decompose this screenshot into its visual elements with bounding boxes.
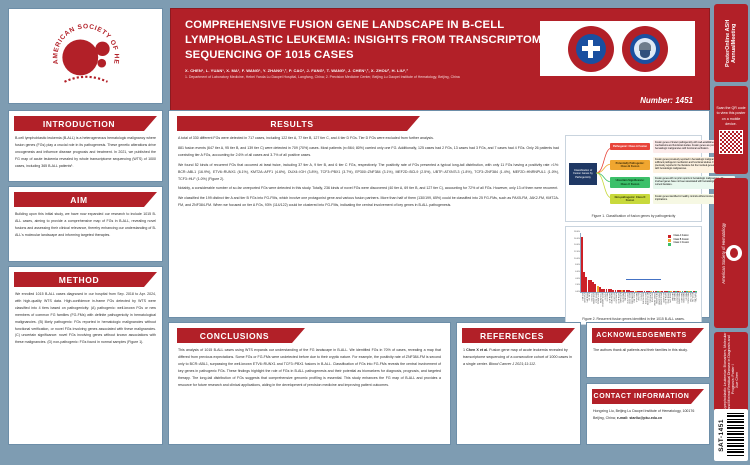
results-body: A total of 330 different FGs were detect… [169, 135, 565, 325]
method-heading: METHOD [14, 272, 144, 287]
results-heading: RESULTS [177, 116, 407, 131]
presenter-label: Xue Chen [735, 372, 739, 388]
poster-header: COMPREHENSIVE FUSION GENE LANDSCAPE IN B… [170, 8, 710, 113]
results-paragraph-4: Notably, a considerable number of so-far… [178, 185, 559, 192]
results-panel: RESULTS A total of 330 different FGs wer… [168, 110, 710, 318]
figure1-tier-label: Non-pathogenic: Class D Fusion [610, 194, 650, 204]
figure1-caption: Figure 1. Classification of fusion genes… [566, 212, 701, 221]
figure-2: 18.0%16.0%14.0%12.0%10.0%8.0%6.0%4.0%2.0… [565, 226, 702, 325]
introduction-heading: INTRODUCTION [14, 116, 144, 131]
conclusions-body: This analysis of 1015 B-ALL cases using … [169, 347, 450, 388]
figures-column: Classification of Fusion Genes by Pathog… [565, 135, 705, 325]
method-body: We enrolled 1015 B-ALL cases diagnosed i… [9, 291, 162, 353]
affiliations: 1. Department of Laboratory Medicine, He… [171, 73, 563, 80]
society-badge: American Society of Hematology [714, 178, 748, 328]
chart-y-tick: 8.0% [568, 264, 580, 266]
chart-y-tick: 4.0% [568, 278, 580, 280]
conclusions-panel: CONCLUSIONS This analysis of 1015 B-ALL … [168, 322, 451, 445]
reference-authors: Chen X et al. [466, 348, 488, 352]
author-list: X. CHEN¹, L. YUAN¹, X. MA¹, F. WANG¹, Y.… [171, 63, 571, 73]
acknowledgements-body: The authors thank all patients and their… [587, 347, 709, 358]
results-paragraph-3: We found 52 kinds of recurrent FGs that … [178, 162, 559, 183]
references-heading: REFERENCES [462, 328, 562, 343]
chart-y-tick: 12.0% [568, 251, 580, 253]
society-label: American Society of Hematology [721, 223, 726, 284]
contact-line-1: Hongxing Liu, Beijing Lu Daopei Institut… [593, 409, 681, 413]
introduction-paragraph: B-cell lymphoblastic leukemia (B-ALL) is… [15, 135, 156, 170]
qr-code-icon[interactable] [719, 130, 743, 154]
aim-paragraph: Building upon this initial study, we hav… [15, 211, 156, 239]
chart-y-tick: 0.0% [568, 291, 580, 293]
ash-logo-panel: AMERICAN SOCIETY OF HEMATOLOGY [8, 8, 163, 104]
method-paragraph: We enrolled 1015 B-ALL cases diagnosed i… [15, 291, 156, 346]
chart-y-tick: 18.0% [568, 231, 580, 233]
figure-1: Classification of Fusion Genes by Pathog… [565, 135, 702, 222]
poster-number: Number: 1451 [640, 96, 693, 105]
chart-x-axis-labels: BCR::ABL1ETV6::RUNX1KMT2A::AFF1DUX4::IGH… [580, 293, 697, 313]
chart-y-tick: 10.0% [568, 258, 580, 260]
aim-panel: AIM Building upon this initial study, we… [8, 186, 163, 262]
reference-citation: 2021;11:112. [515, 362, 536, 366]
right-rail: PosterOnline ASH AnnualMeeting Scan the … [714, 4, 748, 461]
chart-y-axis: 18.0%16.0%14.0%12.0%10.0%8.0%6.0%4.0%2.0… [568, 231, 580, 293]
ash-logo-icon: AMERICAN SOCIETY OF HEMATOLOGY [43, 13, 129, 99]
lu-daopei-medical-group-logo-icon [568, 26, 614, 72]
figure1-tier-label: Uncertain Significance: Class C Fusion [610, 177, 650, 187]
method-panel: METHOD We enrolled 1015 B-ALL cases diag… [8, 266, 163, 445]
chart-y-tick: 2.0% [568, 284, 580, 286]
barcode-box: SAT-1451 [714, 409, 748, 461]
contact-panel: CONTACT INFORMATION Hongxing Liu, Beijin… [586, 383, 710, 445]
contact-heading: CONTACT INFORMATION [592, 389, 691, 404]
introduction-body: B-cell lymphoblastic leukemia (B-ALL) is… [9, 135, 162, 177]
chart-plot-area [580, 233, 697, 293]
acknowledgements-heading: ACKNOWLEDGEMENTS [592, 328, 691, 343]
introduction-panel: INTRODUCTION B-cell lymphoblastic leukem… [8, 110, 163, 182]
figure1-tier-label: Potentially Pathogenic: Class B Fusion [610, 160, 650, 170]
chart-bar [695, 291, 697, 292]
figure1-tier-label: Pathogenic: Class A Fusion [610, 143, 650, 150]
results-paragraph-2: 881 fusion events (647 tier A, 95 tier B… [178, 145, 559, 159]
barcode-icon [727, 413, 744, 457]
results-paragraph-1: A total of 330 different FGs were detect… [178, 135, 559, 142]
reference-number: 1 [463, 348, 465, 352]
barcode-label: SAT-1451 [718, 419, 725, 452]
chart-x-tick: OFD1::JAK2 [695, 293, 697, 313]
chart-y-tick: 6.0% [568, 271, 580, 273]
ash-mark-icon [726, 245, 742, 261]
figure1-center-label: Classification of Fusion Genes by Pathog… [569, 163, 597, 185]
chart-y-tick: 14.0% [568, 244, 580, 246]
conclusions-paragraph: This analysis of 1015 B-ALL cases using … [178, 347, 441, 388]
acknowledgements-panel: ACKNOWLEDGEMENTS The authors thank all p… [586, 322, 710, 378]
results-paragraph-5: We classified the 199 distinct tier A an… [178, 195, 559, 209]
lu-daopei-institute-logo-icon [622, 26, 668, 72]
poster-online-label: PosterOnline ASH AnnualMeeting [725, 4, 737, 82]
page-title: COMPREHENSIVE FUSION GENE LANDSCAPE IN B… [171, 9, 551, 63]
aim-heading: AIM [14, 192, 144, 207]
qr-scan-box: Scan the QR code to view this poster on … [714, 86, 748, 174]
chart-longtail-line [626, 279, 661, 280]
scan-instructions: Scan the QR code to view this poster on … [716, 106, 746, 128]
chart-y-tick: 16.0% [568, 238, 580, 240]
contact-body: Hongxing Liu, Beijing Lu Daopei Institut… [587, 408, 709, 426]
contact-email[interactable]: starliu@pku.edu.cn [629, 416, 662, 420]
reference-journal: Blood Cancer J [489, 362, 514, 366]
institution-logos [540, 21, 695, 76]
references-panel: REFERENCES 1 Chen X et al. Fusion gene m… [456, 322, 581, 445]
contact-email-label: e-mail: [617, 416, 628, 420]
poster-online-badge: PosterOnline ASH AnnualMeeting [714, 4, 748, 82]
references-body: 1 Chen X et al. Fusion gene map of acute… [457, 347, 580, 369]
aim-body: Building upon this initial study, we hav… [9, 211, 162, 246]
conclusions-heading: CONCLUSIONS [177, 328, 292, 343]
